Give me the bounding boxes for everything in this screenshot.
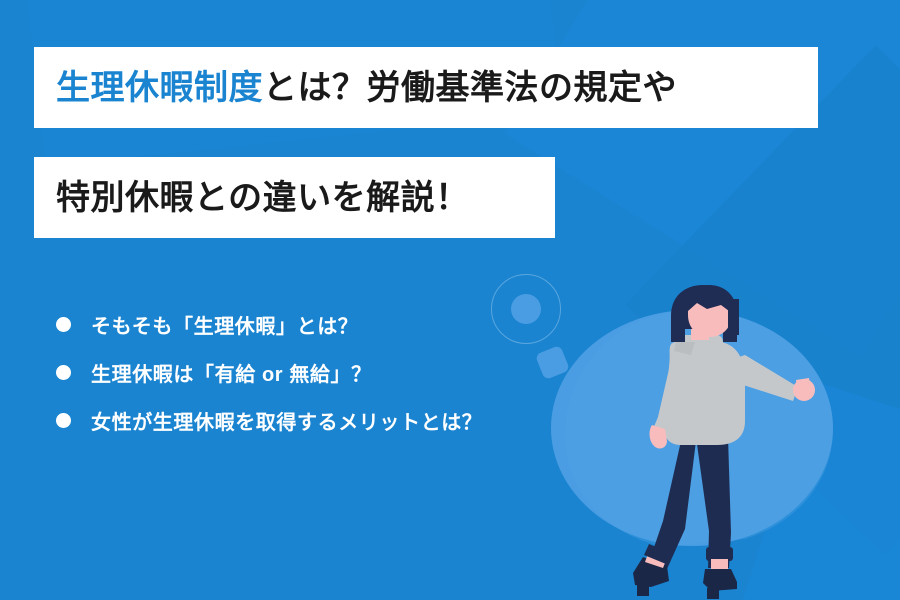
bullet-circle-icon: [56, 413, 71, 428]
headline-accent-text: 生理休暇制度: [56, 69, 263, 107]
headline-rest-text: とは？労働基準法の規定や: [263, 69, 677, 107]
bullet-label: 生理休暇は「有給 or 無給」？: [91, 358, 372, 387]
hero-banner: 生理休暇制度とは？労働基準法の規定や 特別休暇との違いを解説！ そもそも「生理休…: [0, 0, 900, 600]
headline-line2: 特別休暇との違いを解説！: [56, 181, 470, 215]
cuff-front: [706, 547, 733, 561]
inner-dot-icon: [511, 294, 541, 324]
headline-box-line1: 生理休暇制度とは？労働基準法の規定や: [34, 47, 818, 128]
hair-side-right: [728, 299, 739, 335]
boot-front-heel: [707, 588, 719, 599]
standing-woman-illustration: [545, 285, 900, 600]
list-item: 生理休暇は「有給 or 無給」？: [56, 358, 482, 387]
bullet-label: そもそも「生理休暇」とは？: [91, 310, 358, 339]
boot-front: [703, 569, 737, 591]
topic-bullet-list: そもそも「生理休暇」とは？ 生理休暇は「有給 or 無給」？ 女性が生理休暇を取…: [56, 310, 482, 435]
bullet-circle-icon: [56, 317, 71, 332]
boot-back-heel: [637, 583, 649, 596]
list-item: そもそも「生理休暇」とは？: [56, 310, 482, 339]
headline-line1: 生理休暇制度とは？労働基準法の規定や: [56, 71, 677, 105]
list-item: 女性が生理休暇を取得するメリットとは？: [56, 406, 482, 435]
bullet-circle-icon: [56, 365, 71, 380]
bullet-label: 女性が生理休暇を取得するメリットとは？: [91, 406, 482, 435]
headline-box-line2: 特別休暇との違いを解説！: [34, 157, 555, 238]
